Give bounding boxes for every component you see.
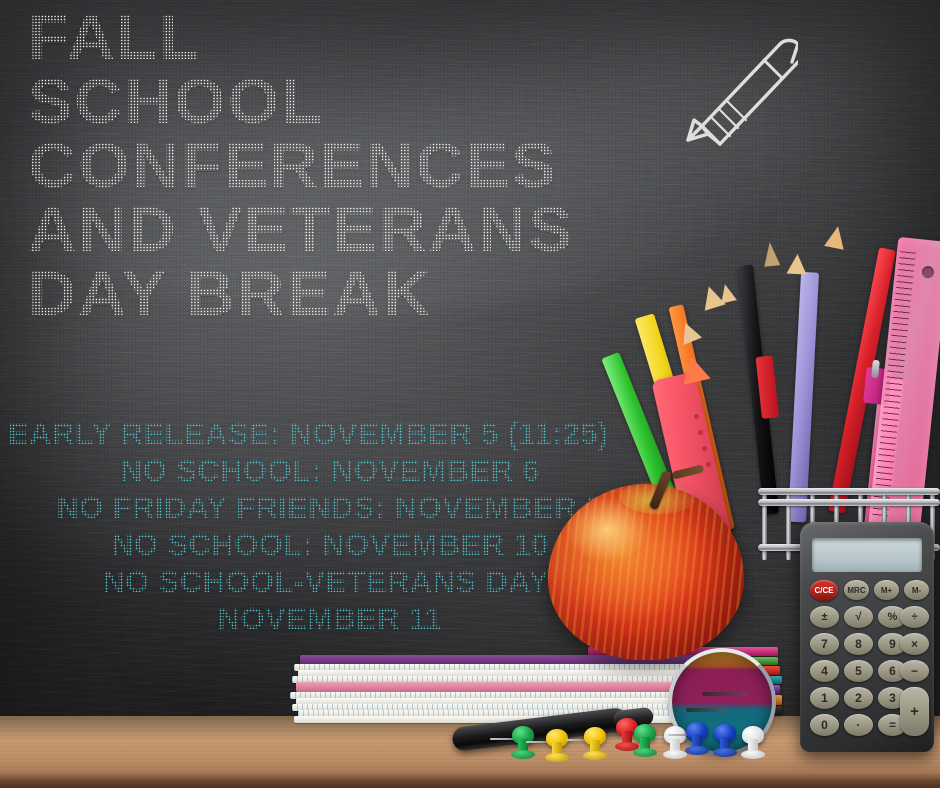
- calculator-key-add[interactable]: +: [900, 687, 929, 736]
- calculator-key-decimal[interactable]: ·: [844, 714, 873, 736]
- pushpin-foot: [663, 750, 687, 759]
- highlighter-hole: [702, 446, 707, 451]
- pushpin-foot: [685, 746, 709, 755]
- pushpin-foot: [713, 748, 737, 757]
- calculator-key-8[interactable]: 8: [844, 633, 873, 655]
- headline-line-5: DAY BREAK: [28, 262, 802, 326]
- calculator-screen: [812, 538, 922, 572]
- highlighter-hole: [694, 414, 699, 419]
- pushpin-foot: [545, 753, 569, 762]
- schedule-line-early-release: EARLY RELEASE: NOVEMBER 5 (11:25): [0, 415, 660, 452]
- calculator-key-multiply[interactable]: ×: [900, 633, 929, 655]
- school-announcement-poster: FALL SCHOOL CONFERENCES AND VETERANS DAY…: [0, 0, 940, 788]
- pushpin-foot: [633, 748, 657, 757]
- page-title: FALL SCHOOL CONFERENCES AND VETERANS DAY…: [28, 6, 758, 326]
- calculator-key-c-ce[interactable]: C/CE: [810, 580, 838, 601]
- calculator-key-1[interactable]: 1: [810, 687, 839, 709]
- highlighter-hole: [706, 462, 711, 467]
- highlighter-hole: [698, 430, 703, 435]
- highlighter-tip: [677, 353, 710, 385]
- basket-ring: [758, 499, 940, 506]
- red-pencil-tip: [824, 224, 848, 249]
- calculator-key-plus-minus[interactable]: ±: [810, 606, 839, 628]
- calculator-key-7[interactable]: 7: [810, 633, 839, 655]
- calculator-key-5[interactable]: 5: [844, 660, 873, 682]
- headline-line-3: CONFERENCES: [28, 134, 802, 198]
- pushpin-foot: [741, 750, 765, 759]
- calculator-key-0[interactable]: 0: [810, 714, 839, 736]
- headline-line-4: AND VETERANS: [28, 198, 802, 262]
- calculator-key-subtract[interactable]: −: [900, 660, 929, 682]
- headline-line-2: SCHOOL: [28, 70, 802, 134]
- pushpin-foot: [511, 750, 535, 759]
- calculator-key-sqrt[interactable]: √: [844, 606, 873, 628]
- calculator-key-m-plus[interactable]: M+: [874, 580, 899, 600]
- calculator-key-divide[interactable]: ÷: [900, 606, 929, 628]
- calculator-key-mrc[interactable]: MRC: [844, 580, 869, 600]
- calculator-key-m-minus[interactable]: M-: [904, 580, 929, 600]
- notebook-cover: [296, 682, 716, 692]
- calculator-key-4[interactable]: 4: [810, 660, 839, 682]
- apple: [548, 470, 744, 660]
- basket-ring: [758, 488, 940, 495]
- calculator[interactable]: C/CE MRC M+ M- ± √ % ÷ 7 8 9 × 4 5 6 − 1…: [800, 522, 934, 752]
- pushpin-foot: [583, 751, 607, 760]
- headline-line-1: FALL: [28, 6, 802, 70]
- calculator-key-2[interactable]: 2: [844, 687, 873, 709]
